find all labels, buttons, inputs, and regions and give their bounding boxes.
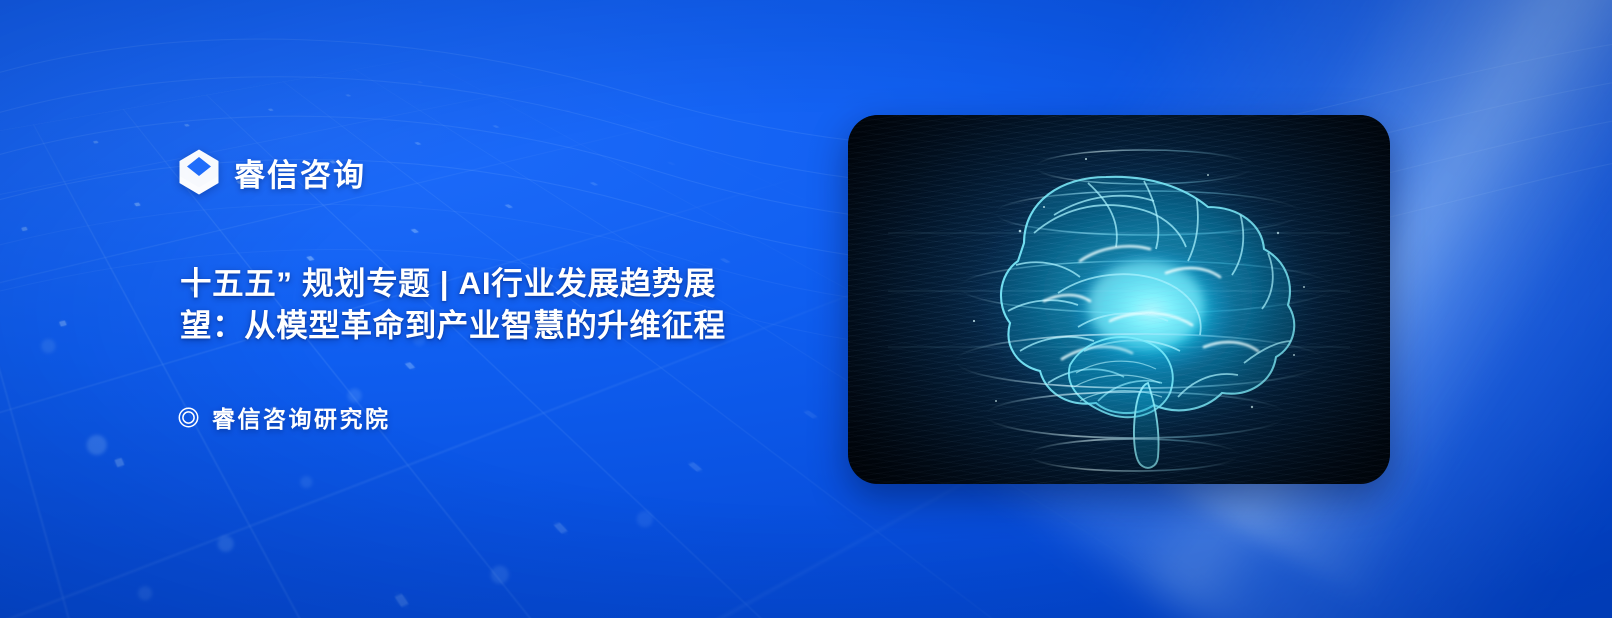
- page-title: 十五五” 规划专题 | AI行业发展趋势展 望：从模型革命到产业智慧的升维征程: [180, 262, 800, 346]
- brand-lockup: 睿信咨询: [178, 148, 366, 196]
- banner-root: 睿信咨询 十五五” 规划专题 | AI行业发展趋势展 望：从模型革命到产业智慧的…: [0, 0, 1612, 618]
- card-vignette: [848, 115, 1390, 484]
- byline-text: 睿信咨询研究院: [212, 400, 391, 434]
- brand-name: 睿信咨询: [234, 150, 366, 195]
- byline: 睿信咨询研究院: [178, 400, 391, 434]
- diamond-logo-icon: [178, 148, 220, 196]
- content-column: 睿信咨询 十五五” 规划专题 | AI行业发展趋势展 望：从模型革命到产业智慧的…: [178, 0, 818, 618]
- circle-outline-icon: [178, 407, 199, 428]
- ai-brain-card: [848, 115, 1390, 484]
